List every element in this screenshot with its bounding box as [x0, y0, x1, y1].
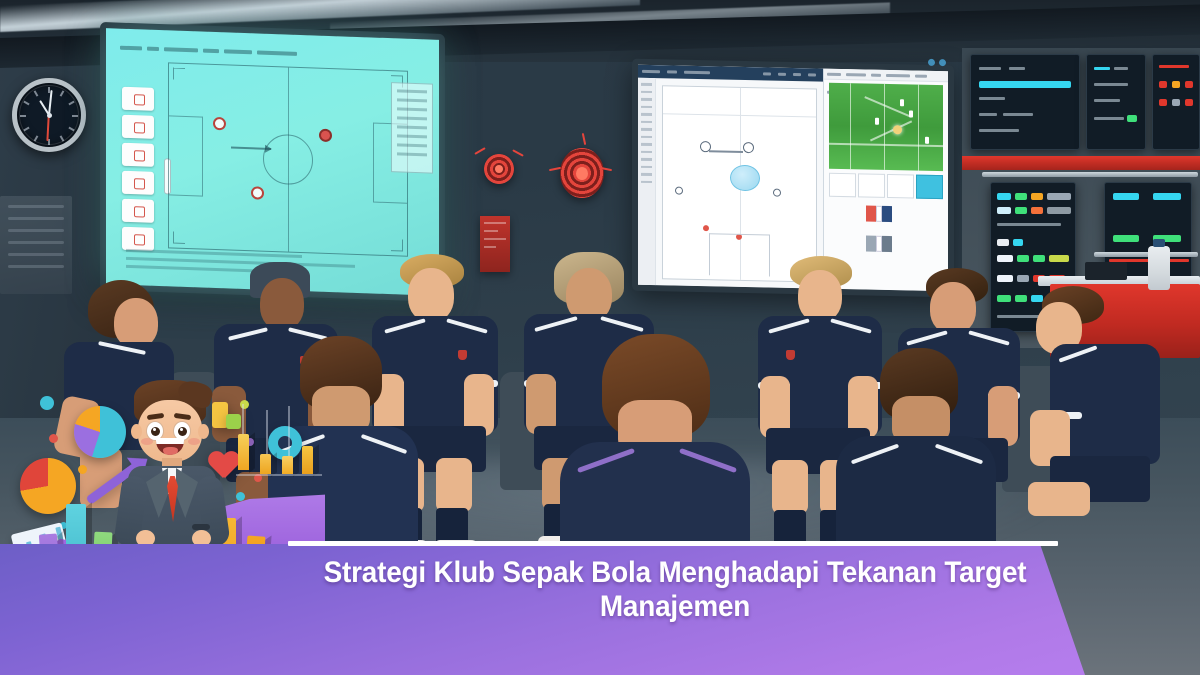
clock-second-hand	[47, 115, 50, 141]
thumbnail-item[interactable]	[829, 173, 856, 198]
match-video-feed[interactable]	[829, 83, 943, 171]
player-figure-foreground	[560, 334, 750, 564]
clock-center-pin	[47, 113, 52, 118]
rack-panel-alerts	[1152, 54, 1200, 150]
ball-marker	[893, 125, 902, 134]
wall-clock	[12, 78, 86, 152]
pitch-diagram	[168, 62, 408, 256]
tool-button-player-icon[interactable]	[122, 199, 154, 223]
ball-marker	[730, 164, 760, 191]
tool-button-arrow-icon[interactable]	[122, 143, 154, 167]
title-banner: Strategi Klub Sepak Bola Menghadapi Teka…	[0, 538, 1200, 675]
pitch-token[interactable]	[213, 117, 226, 130]
target-icon	[484, 154, 514, 184]
tactic-arrow-icon	[231, 146, 271, 149]
decor-dot	[49, 434, 58, 443]
clock-minute-hand	[48, 90, 53, 115]
water-bottle	[1148, 246, 1170, 290]
equipment-box	[1085, 262, 1127, 280]
clock-hour-hand	[39, 100, 50, 115]
screen-status-dots	[924, 53, 946, 71]
decor-dot	[78, 465, 87, 474]
pitch-token[interactable]	[319, 129, 332, 142]
video-thumbnail-strip[interactable]	[829, 173, 943, 199]
floating-mini-bars	[236, 404, 322, 496]
tool-button-shape-icon[interactable]	[122, 171, 154, 195]
tactics-tool-palette[interactable]	[122, 87, 154, 256]
banner-top-rule	[288, 541, 1058, 546]
thumbnail-item[interactable]	[858, 173, 885, 198]
team-kit-icon	[866, 206, 892, 223]
tactics-screen-header	[120, 39, 423, 57]
pitch-token[interactable]	[251, 186, 264, 199]
tool-button-pass-icon[interactable]	[122, 87, 154, 111]
tool-button-move-icon[interactable]	[122, 115, 154, 139]
rack-red-shelf	[962, 156, 1200, 170]
team-kit-icon	[866, 236, 892, 253]
thumbnail-item[interactable]	[887, 174, 914, 199]
page-title: Strategi Klub Sepak Bola Menghadapi Teka…	[308, 556, 1043, 624]
tactics-side-panel	[391, 82, 433, 173]
target-icon	[560, 148, 604, 198]
player-figure	[1028, 286, 1154, 536]
tactics-canvas[interactable]	[662, 85, 817, 282]
decor-dot	[40, 396, 54, 410]
rack-panel-metrics	[1086, 54, 1146, 150]
screenshot-root: Strategi Klub Sepak Bola Menghadapi Teka…	[0, 0, 1200, 675]
rack-panel-status	[970, 54, 1080, 150]
thumbnail-item-active[interactable]	[916, 175, 943, 200]
analytics-toolbar[interactable]	[638, 65, 823, 82]
player-figure-foreground	[836, 348, 996, 558]
